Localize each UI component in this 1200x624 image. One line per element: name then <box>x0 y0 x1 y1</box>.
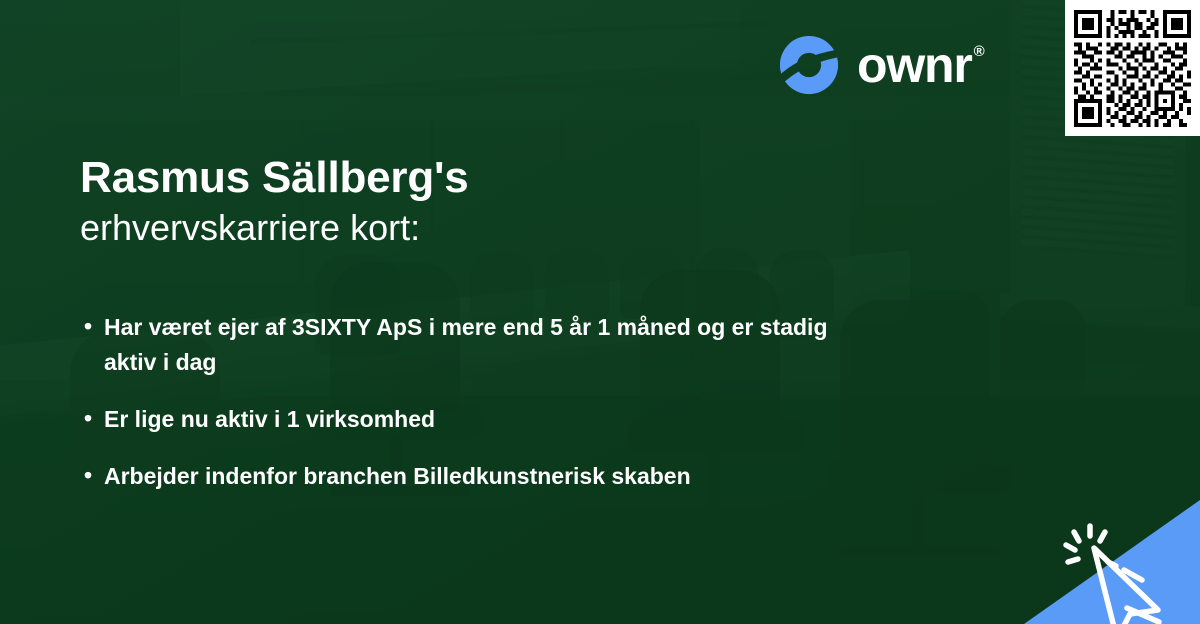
wordmark-text: ownr <box>857 40 972 90</box>
list-item: Har været ejer af 3SIXTY ApS i mere end … <box>82 310 842 380</box>
page-title: Rasmus Sällberg's erhvervskarriere kort: <box>80 152 800 249</box>
corner-wedge <box>990 500 1200 624</box>
person-name: Rasmus Sällberg's <box>80 152 800 204</box>
ownr-logo[interactable]: ownr ® <box>778 34 984 96</box>
qr-code[interactable] <box>1074 10 1191 127</box>
ownr-wordmark: ownr ® <box>857 40 984 90</box>
list-item: Arbejder indenfor branchen Billedkunstne… <box>82 459 842 494</box>
click-cursor-badge[interactable] <box>990 500 1200 624</box>
ownr-career-card: ownr ® <box>0 0 1200 624</box>
ownr-circle-swoosh-icon <box>778 34 840 96</box>
career-facts-list: Har været ejer af 3SIXTY ApS i mere end … <box>82 310 962 494</box>
list-item: Er lige nu aktiv i 1 virksomhed <box>82 402 842 437</box>
subtitle: erhvervskarriere kort: <box>80 206 800 249</box>
registered-mark: ® <box>974 44 984 59</box>
qr-code-panel[interactable] <box>1065 0 1200 136</box>
